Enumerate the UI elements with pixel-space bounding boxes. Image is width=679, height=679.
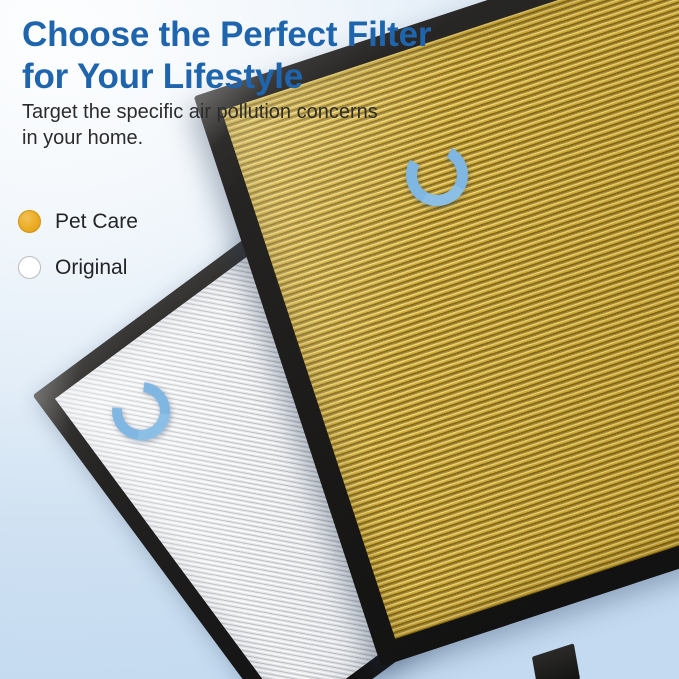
text-overlay: Choose the Perfect Filter for Your Lifes… [0,0,679,679]
page-title-line-2: for Your Lifestyle [22,56,582,98]
radio-button-pet-care[interactable] [18,210,41,233]
page-title-line-1: Choose the Perfect Filter [22,14,582,56]
radio-button-original[interactable] [18,256,41,279]
page-title: Choose the Perfect Filter for Your Lifes… [22,14,582,97]
page-subtitle-line-1: Target the specific air pollution concer… [22,99,452,125]
filter-type-radio-group[interactable]: Pet Care Original [18,198,248,290]
page-subtitle-line-2: in your home. [22,125,452,151]
radio-label-pet-care: Pet Care [55,211,138,232]
radio-option-pet-care[interactable]: Pet Care [18,198,248,244]
product-feature-banner: Choose the Perfect Filter for Your Lifes… [0,0,679,679]
radio-label-original: Original [55,257,127,278]
radio-option-original[interactable]: Original [18,244,248,290]
page-subtitle: Target the specific air pollution concer… [22,99,452,151]
